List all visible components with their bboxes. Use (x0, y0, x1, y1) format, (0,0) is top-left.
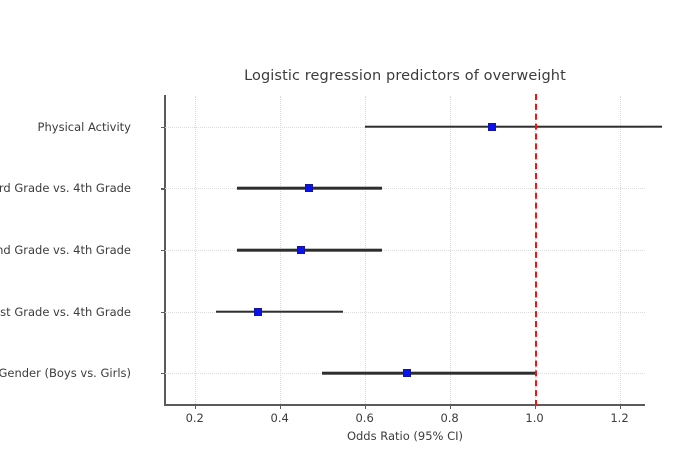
x-tick-label: 1.2 (598, 411, 642, 425)
y-tick-mark (161, 373, 165, 374)
point-estimate-marker (305, 184, 313, 192)
y-tick-label: Physical Activity (38, 120, 131, 134)
x-tick-mark (195, 405, 196, 409)
confidence-interval-line (216, 310, 343, 313)
y-tick-mark (161, 312, 165, 313)
x-axis-label: Odds Ratio (95% CI) (165, 429, 645, 443)
x-tick-label: 0.8 (428, 411, 472, 425)
y-tick-mark (161, 250, 165, 251)
confidence-interval-line (237, 249, 381, 252)
point-estimate-marker (254, 308, 262, 316)
x-axis-spine (164, 404, 645, 406)
y-tick-label: Gender (Boys vs. Girls) (0, 366, 131, 380)
x-tick-mark (450, 405, 451, 409)
x-tick-mark (280, 405, 281, 409)
chart-title: Logistic regression predictors of overwe… (165, 68, 645, 84)
forest-plot-figure: Logistic regression predictors of overwe… (0, 0, 673, 458)
x-tick-mark (620, 405, 621, 409)
x-tick-mark (365, 405, 366, 409)
point-estimate-marker (403, 369, 411, 377)
x-tick-label: 0.6 (343, 411, 387, 425)
point-estimate-marker (297, 246, 305, 254)
y-tick-mark (161, 127, 165, 128)
plot-area: Gender (Boys vs. Girls)1st Grade vs. 4th… (165, 96, 645, 404)
confidence-interval-line (365, 125, 662, 128)
x-tick-label: 0.2 (173, 411, 217, 425)
x-tick-label: 1.0 (513, 411, 557, 425)
x-tick-label: 0.4 (258, 411, 302, 425)
y-tick-label: 2nd Grade vs. 4th Grade (0, 243, 131, 257)
x-tick-mark (535, 405, 536, 409)
y-tick-label: 1st Grade vs. 4th Grade (0, 305, 131, 319)
point-estimate-marker (488, 123, 496, 131)
confidence-interval-line (322, 372, 534, 375)
y-tick-label: 3rd Grade vs. 4th Grade (0, 181, 131, 195)
y-tick-mark (161, 188, 165, 189)
reference-line (535, 94, 537, 406)
